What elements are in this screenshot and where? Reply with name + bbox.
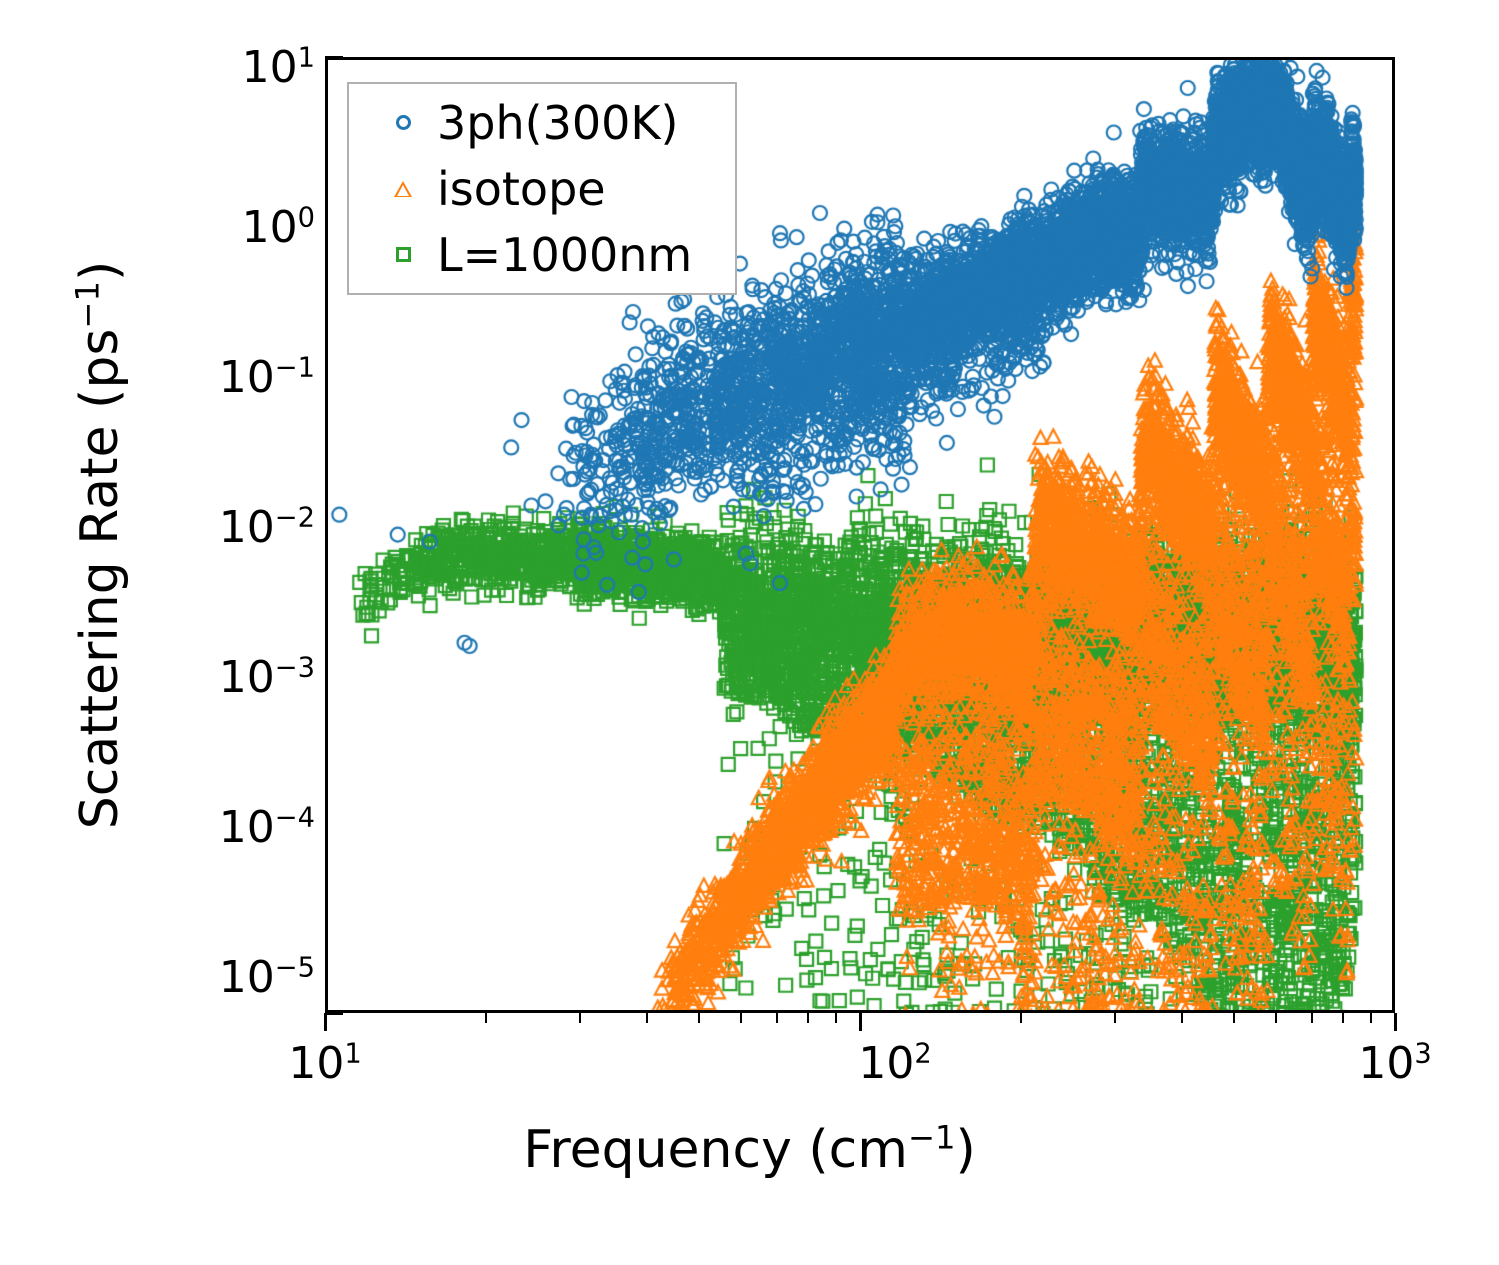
y-tick-label-1e-1: 10−1: [145, 356, 315, 400]
x-tick-label-1e2: 102: [858, 1042, 931, 1086]
y-axis-title-close: ): [70, 261, 130, 281]
tick-mark: [324, 1013, 327, 1031]
x-axis-title-exponent: −1: [908, 1119, 956, 1157]
y-axis-title-main: Scattering Rate (ps: [70, 329, 130, 830]
tick-mark: [1181, 1013, 1183, 1023]
tick-mark: [579, 1013, 581, 1023]
scatter-plot-figure: Scattering Rate (ps−1) 101 100 10−1 10−2…: [0, 0, 1499, 1265]
triangle-marker-icon: [375, 181, 431, 197]
square-marker-icon: [375, 247, 431, 262]
tick-mark: [1233, 1013, 1235, 1023]
x-tick-label-1e3: 103: [1358, 1042, 1431, 1086]
tick-mark: [740, 1013, 742, 1023]
tick-mark: [807, 1013, 809, 1023]
y-tick-label-1e-2: 10−2: [145, 506, 315, 550]
y-tick-label-1e-3: 10−3: [145, 656, 315, 700]
y-axis-title: Scattering Rate (ps−1): [70, 45, 130, 1045]
tick-mark: [1311, 1013, 1313, 1023]
tick-mark: [698, 1013, 700, 1023]
x-axis-title: Frequency (cm−1): [0, 1120, 1499, 1180]
tick-mark: [1114, 1013, 1116, 1023]
legend-label-boundary: L=1000nm: [437, 228, 692, 282]
x-tick-label-1e1: 101: [288, 1042, 361, 1086]
legend-item-isotope[interactable]: isotope: [375, 156, 735, 222]
circle-marker-icon: [375, 115, 431, 130]
legend-item-boundary[interactable]: L=1000nm: [375, 222, 735, 288]
x-axis-title-close: ): [955, 1120, 975, 1180]
tick-mark: [646, 1013, 648, 1023]
y-tick-label-1e-5: 10−5: [145, 956, 315, 1000]
tick-mark: [835, 1013, 837, 1023]
tick-mark: [1370, 1013, 1372, 1023]
tick-mark: [859, 1013, 862, 1031]
tick-mark: [1394, 1013, 1397, 1031]
legend-label-isotope: isotope: [437, 162, 606, 216]
legend-box[interactable]: 3ph(300K) isotope L=1000nm: [347, 82, 737, 295]
legend-label-3ph: 3ph(300K): [437, 96, 678, 150]
x-axis-title-main: Frequency (cm: [523, 1120, 908, 1180]
tick-mark: [1342, 1013, 1344, 1023]
tick-mark: [485, 1013, 487, 1023]
y-tick-label-1e-4: 10−4: [145, 806, 315, 850]
legend-item-3ph[interactable]: 3ph(300K): [375, 90, 735, 156]
y-tick-label-1e0: 100: [155, 206, 315, 250]
tick-mark: [1275, 1013, 1277, 1023]
y-tick-label-1e1: 101: [155, 46, 315, 90]
tick-mark: [776, 1013, 778, 1023]
tick-mark: [1020, 1013, 1022, 1023]
y-axis-title-exponent: −1: [69, 281, 107, 329]
